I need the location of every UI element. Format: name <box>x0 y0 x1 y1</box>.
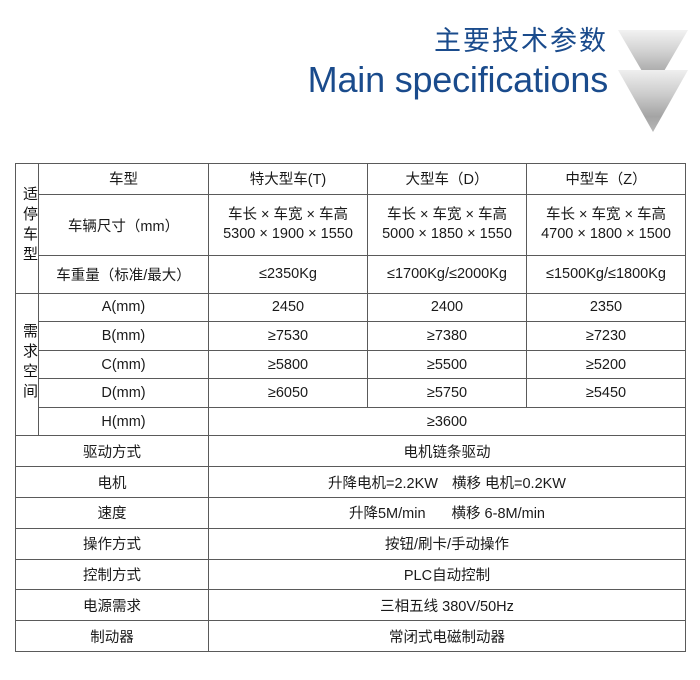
table-row-space-d: D(mm) ≥6050 ≥5750 ≥5450 <box>16 379 686 408</box>
column-header-z: 中型车（Z） <box>527 164 686 195</box>
table-row-drive-mode: 驱动方式 电机链条驱动 <box>16 436 686 467</box>
row-label-space-h: H(mm) <box>39 407 209 436</box>
cell-drive-mode-value: 电机链条驱动 <box>209 436 686 467</box>
cell-space-c-t: ≥5800 <box>209 350 368 379</box>
cell-operation-mode-value: 按钮/刷卡/手动操作 <box>209 528 686 559</box>
section-label-vehicle-type-text: 适停车型 <box>18 186 41 266</box>
cell-vehicle-dimensions-t-line2: 5300 × 1900 × 1550 <box>211 225 365 244</box>
table-row-operation-mode: 操作方式 按钮/刷卡/手动操作 <box>16 528 686 559</box>
page-title-english: Main specifications <box>308 59 608 101</box>
cell-space-b-t: ≥7530 <box>209 322 368 351</box>
table-row-space-c: C(mm) ≥5800 ≥5500 ≥5200 <box>16 350 686 379</box>
specifications-page: 主要技术参数 Main specifications <box>0 0 700 680</box>
cell-brake-value: 常闭式电磁制动器 <box>209 621 686 652</box>
cell-vehicle-dimensions-d-line2: 5000 × 1850 × 1550 <box>370 225 524 244</box>
row-label-motor: 电机 <box>16 467 209 498</box>
row-label-brake: 制动器 <box>16 621 209 652</box>
section-label-space-requirement: 需求空间 <box>16 293 39 436</box>
cell-space-a-t: 2450 <box>209 293 368 322</box>
cell-speed-value-part2: 横移 6-8M/min <box>452 506 545 522</box>
table-row-speed: 速度 升降5M/min横移 6-8M/min <box>16 498 686 529</box>
cell-motor-value: 升降电机=2.2KW横移 电机=0.2KW <box>209 467 686 498</box>
table-row-control-mode: 控制方式 PLC自动控制 <box>16 559 686 590</box>
row-label-control-mode: 控制方式 <box>16 559 209 590</box>
row-label-operation-mode: 操作方式 <box>16 528 209 559</box>
table-row-vehicle-weight: 车重量（标准/最大） ≤2350Kg ≤1700Kg/≤2000Kg ≤1500… <box>16 256 686 293</box>
page-title-chinese: 主要技术参数 <box>308 24 608 58</box>
cell-space-h-merged: ≥3600 <box>209 407 686 436</box>
column-header-row-label: 车型 <box>39 164 209 195</box>
cell-vehicle-dimensions-t-line1: 车长 × 车宽 × 车高 <box>211 206 365 225</box>
row-label-speed: 速度 <box>16 498 209 529</box>
cell-speed-value: 升降5M/min横移 6-8M/min <box>209 498 686 529</box>
double-chevron-down-icon <box>616 28 690 136</box>
column-header-t: 特大型车(T) <box>209 164 368 195</box>
cell-motor-value-part1: 升降电机=2.2KW <box>328 476 438 492</box>
cell-motor-value-part2: 横移 电机=0.2KW <box>452 476 566 492</box>
row-label-vehicle-dimensions: 车辆尺寸（mm） <box>39 194 209 256</box>
page-header: 主要技术参数 Main specifications <box>0 0 700 150</box>
cell-space-d-d: ≥5750 <box>368 379 527 408</box>
cell-space-b-d: ≥7380 <box>368 322 527 351</box>
cell-control-mode-value: PLC自动控制 <box>209 559 686 590</box>
row-label-vehicle-weight: 车重量（标准/最大） <box>39 256 209 293</box>
cell-vehicle-weight-t: ≤2350Kg <box>209 256 368 293</box>
cell-space-a-d: 2400 <box>368 293 527 322</box>
title-block: 主要技术参数 Main specifications <box>308 24 608 101</box>
table-row-power-requirement: 电源需求 三相五线 380V/50Hz <box>16 590 686 621</box>
cell-space-a-z: 2350 <box>527 293 686 322</box>
cell-vehicle-dimensions-d-line1: 车长 × 车宽 × 车高 <box>370 206 524 225</box>
cell-space-c-z: ≥5200 <box>527 350 686 379</box>
cell-vehicle-dimensions-t: 车长 × 车宽 × 车高 5300 × 1900 × 1550 <box>209 194 368 256</box>
section-label-space-requirement-text: 需求空间 <box>18 323 41 403</box>
cell-vehicle-weight-z: ≤1500Kg/≤1800Kg <box>527 256 686 293</box>
cell-vehicle-dimensions-d: 车长 × 车宽 × 车高 5000 × 1850 × 1550 <box>368 194 527 256</box>
cell-vehicle-weight-d: ≤1700Kg/≤2000Kg <box>368 256 527 293</box>
cell-power-requirement-value: 三相五线 380V/50Hz <box>209 590 686 621</box>
section-label-vehicle-type: 适停车型 <box>16 164 39 294</box>
row-label-space-c: C(mm) <box>39 350 209 379</box>
main-specifications-table: 适停车型 车型 特大型车(T) 大型车（D） 中型车（Z） 车辆尺寸（mm） 车… <box>15 163 686 652</box>
table-row-space-h: H(mm) ≥3600 <box>16 407 686 436</box>
cell-speed-value-part1: 升降5M/min <box>349 506 426 522</box>
row-label-space-d: D(mm) <box>39 379 209 408</box>
table-row-vehicle-dimensions: 车辆尺寸（mm） 车长 × 车宽 × 车高 5300 × 1900 × 1550… <box>16 194 686 256</box>
row-label-space-b: B(mm) <box>39 322 209 351</box>
row-label-drive-mode: 驱动方式 <box>16 436 209 467</box>
cell-space-d-z: ≥5450 <box>527 379 686 408</box>
row-label-power-requirement: 电源需求 <box>16 590 209 621</box>
cell-vehicle-dimensions-z-line1: 车长 × 车宽 × 车高 <box>529 206 683 225</box>
cell-vehicle-dimensions-z-line2: 4700 × 1800 × 1500 <box>529 225 683 244</box>
table-row-brake: 制动器 常闭式电磁制动器 <box>16 621 686 652</box>
table-row-space-a: 需求空间 A(mm) 2450 2400 2350 <box>16 293 686 322</box>
cell-vehicle-dimensions-z: 车长 × 车宽 × 车高 4700 × 1800 × 1500 <box>527 194 686 256</box>
table-row-motor: 电机 升降电机=2.2KW横移 电机=0.2KW <box>16 467 686 498</box>
table-row-space-b: B(mm) ≥7530 ≥7380 ≥7230 <box>16 322 686 351</box>
table-header-row: 适停车型 车型 特大型车(T) 大型车（D） 中型车（Z） <box>16 164 686 195</box>
row-label-space-a: A(mm) <box>39 293 209 322</box>
column-header-d: 大型车（D） <box>368 164 527 195</box>
cell-space-b-z: ≥7230 <box>527 322 686 351</box>
cell-space-c-d: ≥5500 <box>368 350 527 379</box>
cell-space-d-t: ≥6050 <box>209 379 368 408</box>
